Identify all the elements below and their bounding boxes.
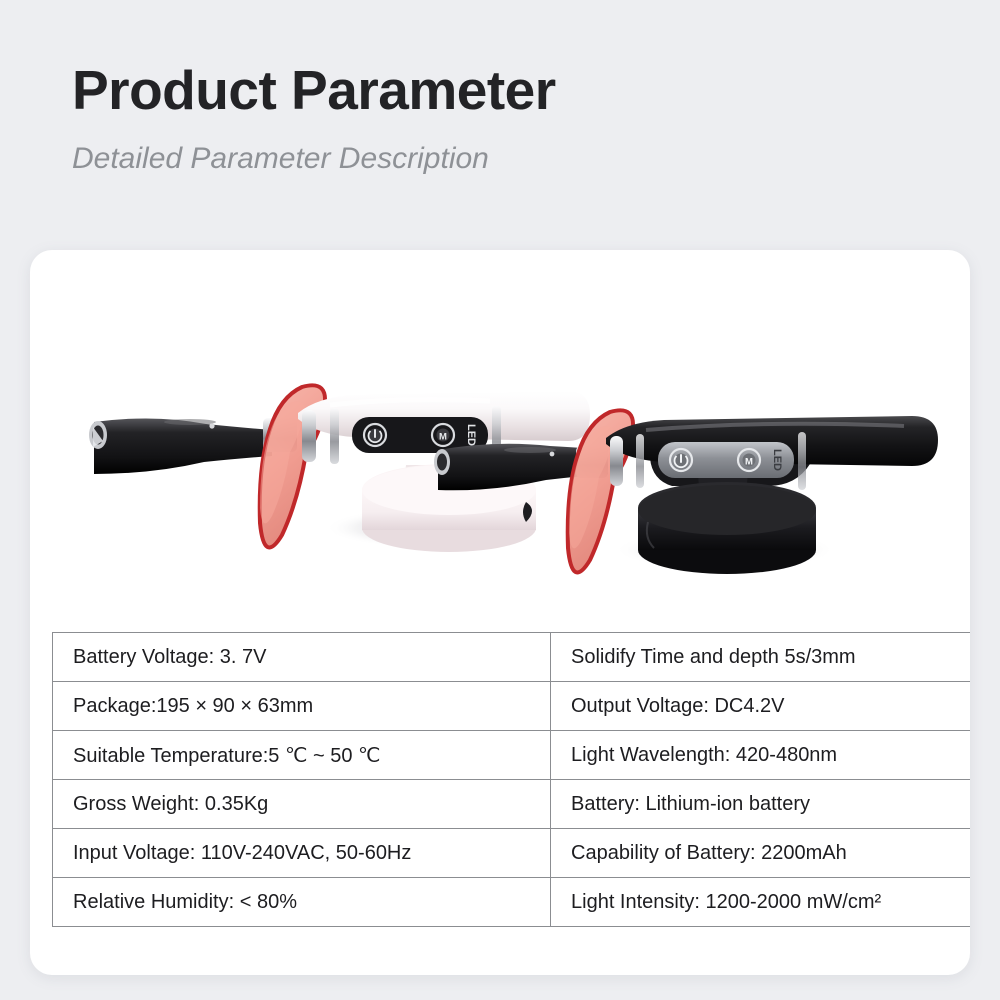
white-device-light-guide: [89, 418, 272, 474]
spec-table-body: Battery Voltage: 3. 7V Solidify Time and…: [53, 633, 971, 927]
svg-text:LED: LED: [771, 449, 783, 471]
svg-text:LED: LED: [465, 424, 477, 446]
spec-cell-left: Suitable Temperature:5 ℃ ~ 50 ℃: [53, 731, 551, 780]
svg-text:M: M: [745, 457, 753, 468]
spec-cell-left: Battery Voltage: 3. 7V: [53, 633, 551, 682]
black-device-control-panel[interactable]: M LED: [658, 442, 794, 478]
spec-cell-right: Battery: Lithium-ion battery: [551, 780, 971, 829]
spec-cell-right: Solidify Time and depth 5s/3mm: [551, 633, 971, 682]
spec-cell-right: Output Voltage: DC4.2V: [551, 682, 971, 731]
spec-cell-right: Capability of Battery: 2200mAh: [551, 829, 971, 878]
page-subtitle: Detailed Parameter Description: [72, 142, 932, 175]
table-row: Relative Humidity: < 80% Light Intensity…: [53, 878, 971, 927]
spec-cell-right: Light Wavelength: 420-480nm: [551, 731, 971, 780]
table-row: Input Voltage: 110V-240VAC, 50-60Hz Capa…: [53, 829, 971, 878]
spec-cell-right: Light Intensity: 1200-2000 mW/cm²: [551, 878, 971, 927]
page-header: Product Parameter Detailed Parameter Des…: [72, 62, 932, 175]
page-title: Product Parameter: [72, 62, 932, 120]
specification-table: Battery Voltage: 3. 7V Solidify Time and…: [52, 632, 970, 927]
content-card: M LED: [30, 250, 970, 975]
table-row: Suitable Temperature:5 ℃ ~ 50 ℃ Light Wa…: [53, 731, 971, 780]
product-image: M LED: [30, 250, 970, 620]
table-row: Gross Weight: 0.35Kg Battery: Lithium-io…: [53, 780, 971, 829]
product-parameter-page: Product Parameter Detailed Parameter Des…: [0, 0, 1000, 1000]
table-row: Battery Voltage: 3. 7V Solidify Time and…: [53, 633, 971, 682]
spec-cell-left: Gross Weight: 0.35Kg: [53, 780, 551, 829]
svg-text:M: M: [439, 432, 447, 443]
spec-cell-left: Relative Humidity: < 80%: [53, 878, 551, 927]
spec-cell-left: Input Voltage: 110V-240VAC, 50-60Hz: [53, 829, 551, 878]
table-row: Package:195 × 90 × 63mm Output Voltage: …: [53, 682, 971, 731]
spec-cell-left: Package:195 × 90 × 63mm: [53, 682, 551, 731]
